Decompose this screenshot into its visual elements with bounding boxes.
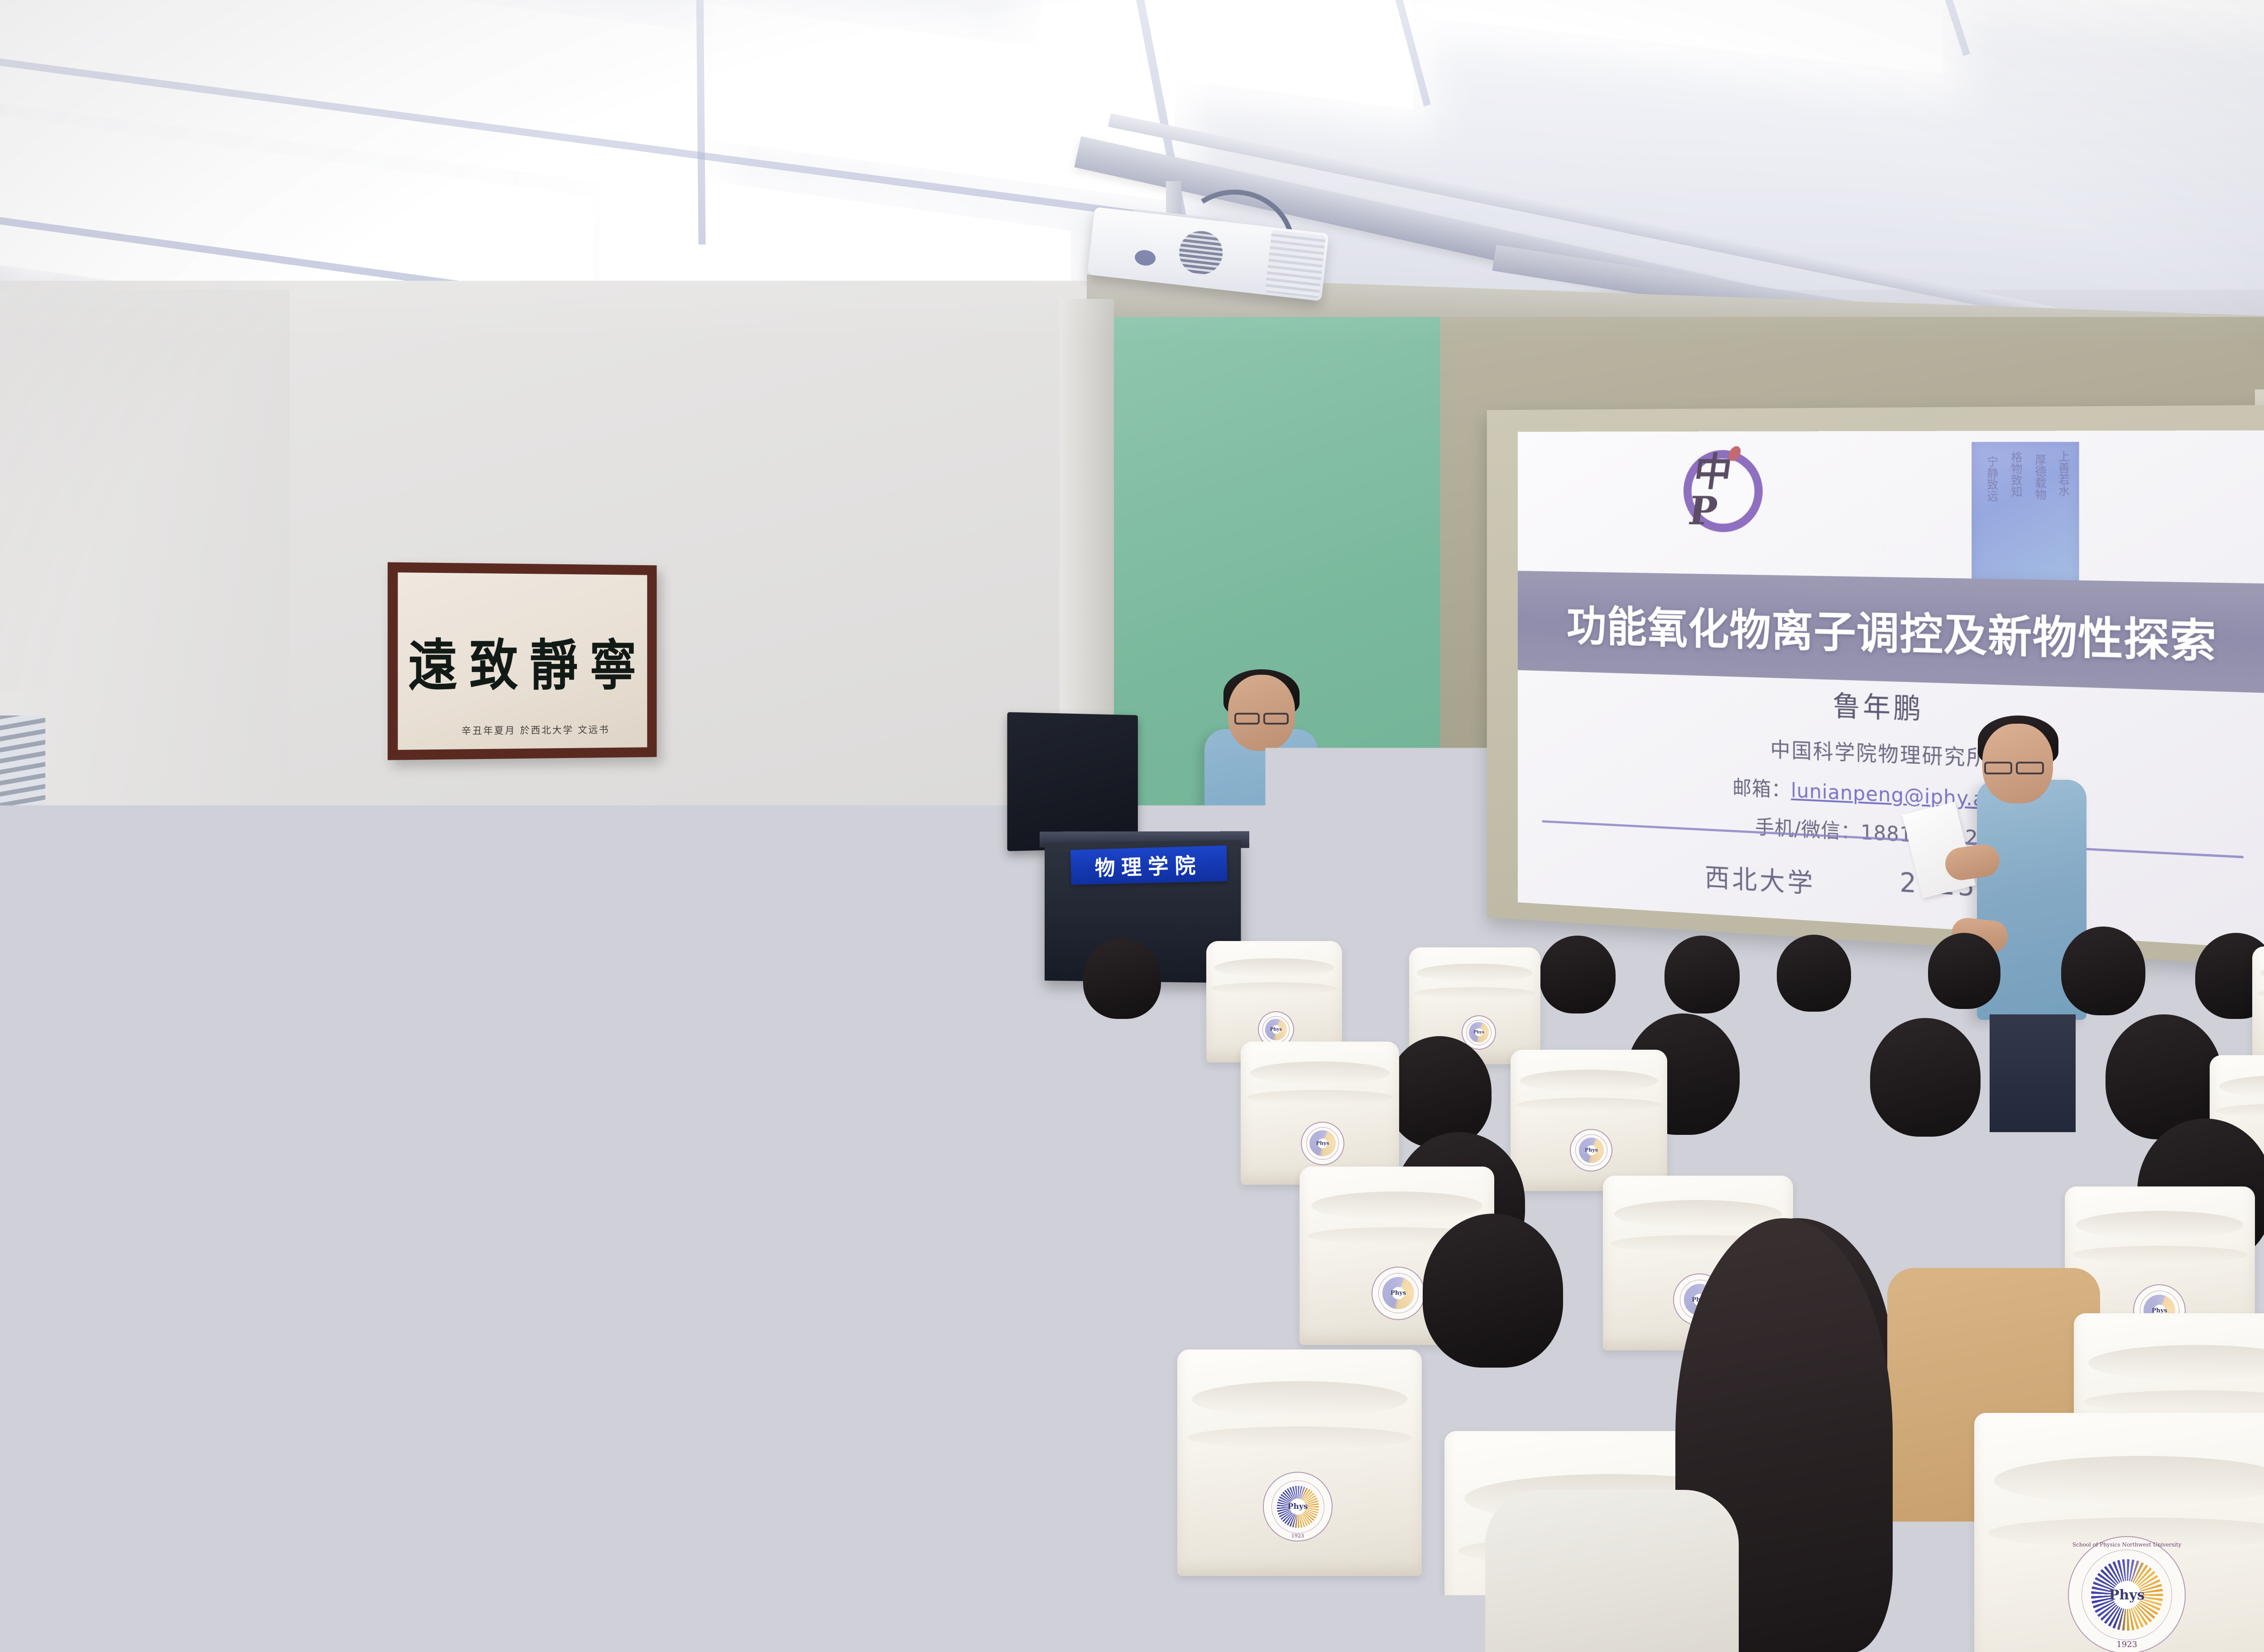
chair-logo: Phys bbox=[527, 1010, 561, 1044]
chair-logo-center: Phys bbox=[1587, 1145, 1597, 1155]
ceiling-light-panel bbox=[1422, 0, 1943, 73]
host-legs bbox=[1990, 1014, 2076, 1132]
chair-cover: Phys bbox=[479, 945, 606, 1058]
seal-line-2: 厚德载物 bbox=[2031, 454, 2048, 500]
calligraphy-mat: 遠 致 靜 寧 辛丑年夏月 於西北大学 文远书 bbox=[398, 572, 648, 750]
calligraphy-characters: 遠 致 靜 寧 bbox=[408, 621, 638, 701]
email-label: 邮箱： bbox=[1732, 777, 1791, 802]
podium-sign: 物理学院 bbox=[1070, 845, 1228, 885]
chair-cover: Phys bbox=[1241, 1042, 1399, 1185]
chair-logo-center: Phys bbox=[958, 1583, 985, 1611]
chair-logo-text-top: School of Physics Northwest University bbox=[2069, 1542, 2185, 1548]
audience-head bbox=[1387, 1036, 1492, 1148]
chair-logo-center: Phys bbox=[890, 1152, 899, 1161]
chair-cover-foreground: Phys School of Physics Northwest Univers… bbox=[1974, 1413, 2264, 1652]
calligraphy-signature: 辛丑年夏月 於西北大学 文远书 bbox=[461, 723, 609, 738]
chair-logo-text-top: School of Physics Northwest University bbox=[914, 1544, 1030, 1550]
calligraphy-frame: 遠 致 靜 寧 辛丑年夏月 於西北大学 文远书 bbox=[388, 562, 657, 760]
foreground-audience-shoulder bbox=[1485, 1490, 1739, 1652]
presenter-laptop bbox=[1007, 712, 1138, 851]
chair-logo-center: Phys bbox=[2113, 1581, 2140, 1609]
audience-head bbox=[149, 927, 223, 1004]
chair-seat-wood bbox=[272, 1558, 507, 1652]
wall-cable bbox=[14, 818, 24, 886]
chair-cover bbox=[2252, 946, 2264, 1068]
chair-logo-center: Phys bbox=[540, 1023, 548, 1031]
chair-cover: Phys bbox=[823, 938, 955, 1056]
seal-line-3: 格物致知 bbox=[2007, 451, 2024, 497]
audience-head bbox=[1664, 936, 1740, 1013]
chair-logo-year: 1923 bbox=[914, 1642, 1030, 1652]
slide-title: 功能氧化物离子调控及新物性探索 bbox=[1567, 591, 2216, 670]
chair-logo-year: 1923 bbox=[2069, 1640, 2185, 1649]
chair-logo-center: Phys bbox=[1475, 1028, 1482, 1036]
audience-head bbox=[730, 923, 811, 1009]
audience-head bbox=[261, 956, 338, 1038]
iop-logo-center-text: 中P bbox=[1686, 448, 1735, 533]
iop-logo-glyph: 中P bbox=[1686, 452, 1760, 530]
presenter-glasses-left bbox=[1234, 713, 1260, 725]
air-conditioner-vent bbox=[0, 716, 45, 806]
chair-logo: Phys bbox=[974, 1279, 1026, 1331]
audience-head bbox=[58, 1087, 198, 1236]
chair-cover: Phys bbox=[1511, 1050, 1667, 1191]
host-glasses-left bbox=[1984, 762, 2012, 774]
chair-logo: Phys bbox=[1301, 1122, 1344, 1165]
chair-logo-center: Phys bbox=[994, 1299, 1007, 1311]
institute-of-physics-cas-logo: 中P bbox=[1684, 450, 1763, 533]
audience-head bbox=[1928, 933, 2000, 1009]
chair-logo: Phys bbox=[1372, 1267, 1425, 1320]
chair-logo-center: Phys bbox=[528, 1550, 554, 1577]
chair-logo-center: Phys bbox=[80, 1445, 105, 1470]
chair-logo-center: Phys bbox=[1272, 1025, 1280, 1033]
presenter-glasses-right bbox=[1263, 713, 1289, 725]
chair-logo-center: Phys bbox=[1318, 1138, 1328, 1148]
chair-cover: Phys bbox=[426, 1050, 580, 1188]
slide-header: 中P 上善若水 厚德载物 格物致知 宁静致远 bbox=[1518, 430, 2264, 583]
chair-cover: Phys 1923 bbox=[1177, 1349, 1422, 1576]
slide-content: 中P 上善若水 厚德载物 格物致知 宁静致远 功能氧化物离子调控及新物性探索 鲁… bbox=[1518, 430, 2264, 949]
chair-logo-center: Phys bbox=[1290, 1498, 1306, 1515]
audience-head bbox=[14, 942, 82, 1014]
lecture-hall-photo: 遠 致 靜 寧 辛丑年夏月 於西北大学 文远书 中P 上善若水 厚德载物 bbox=[0, 0, 2264, 1652]
chair-logo-center: Phys bbox=[500, 1144, 510, 1154]
chair-logo: Phys bbox=[603, 1273, 655, 1325]
seal-line-4: 宁静致远 bbox=[1984, 456, 2000, 502]
host-glasses-right bbox=[2016, 762, 2044, 774]
chair-logo-center: Phys bbox=[889, 1020, 897, 1028]
audience-head bbox=[964, 1031, 1068, 1140]
podium-sign-text: 物理学院 bbox=[1094, 849, 1202, 882]
audience-head bbox=[2061, 927, 2145, 1015]
chair-logo-year: 1923 bbox=[41, 1497, 144, 1505]
chair-logo: Phys School of Physics Northwest Univers… bbox=[2068, 1536, 2186, 1652]
slide-title-band: 功能氧化物离子调控及新物性探索 bbox=[1518, 571, 2264, 693]
chair-cover-foreground: Phys School of Physics Northwest Univers… bbox=[0, 1304, 254, 1585]
footer-venue: 西北大学 bbox=[1705, 856, 1815, 900]
audience-head bbox=[1540, 936, 1616, 1013]
projector-lens bbox=[1134, 249, 1156, 267]
audience-head bbox=[1423, 1214, 1563, 1368]
chair-armrest bbox=[1118, 1494, 1186, 1652]
projector-fan-grille bbox=[1177, 229, 1225, 277]
chair-logo: Phys bbox=[1570, 1129, 1612, 1172]
calligraphy-char-2: 致 bbox=[469, 621, 519, 701]
chair-logo-center: Phys bbox=[1392, 1287, 1404, 1299]
phone-label: 手机/微信： bbox=[1755, 816, 1861, 844]
projection-screen: 中P 上善若水 厚德载物 格物致知 宁静致远 功能氧化物离子调控及新物性探索 鲁… bbox=[1518, 430, 2264, 949]
ceiling-light-panel bbox=[1952, 0, 2264, 36]
projector-vent bbox=[1265, 230, 1326, 298]
audience-head bbox=[1777, 935, 1851, 1012]
chair-logo-year: 1923 bbox=[1264, 1533, 1332, 1539]
left-wall bbox=[0, 290, 290, 996]
chair-logo-text-top: School of Physics Northwest University bbox=[41, 1410, 144, 1416]
chair-logo-center: Phys bbox=[623, 1293, 634, 1305]
chair-logo: Phys bbox=[484, 1127, 527, 1170]
audience-head bbox=[714, 1105, 849, 1250]
chair-logo: Phys School of Physics Northwest Univers… bbox=[913, 1538, 1031, 1652]
seal-line-1: 上善若水 bbox=[2055, 450, 2072, 497]
audience-head bbox=[1870, 1018, 1981, 1137]
audience-head bbox=[1083, 938, 1161, 1019]
chair-logo: Phys bbox=[876, 1007, 910, 1041]
calligraphy-seal-graphic: 上善若水 厚德载物 格物致知 宁静致远 bbox=[1971, 442, 2079, 581]
calligraphy-char-4: 寧 bbox=[589, 622, 638, 700]
chair-cover-foreground: Phys School of Physics Northwest Univers… bbox=[815, 1395, 1141, 1652]
chair-logo: Phys School of Physics Northwest Univers… bbox=[40, 1405, 144, 1509]
chair-logo: Phys bbox=[873, 1135, 915, 1177]
calligraphy-char-1: 遠 bbox=[408, 621, 458, 701]
chair-logo-text-top: School of Physics Northwest University bbox=[485, 1512, 597, 1518]
calligraphy-char-3: 靜 bbox=[530, 622, 579, 701]
chair-logo: Phys 1923 bbox=[1263, 1472, 1333, 1542]
